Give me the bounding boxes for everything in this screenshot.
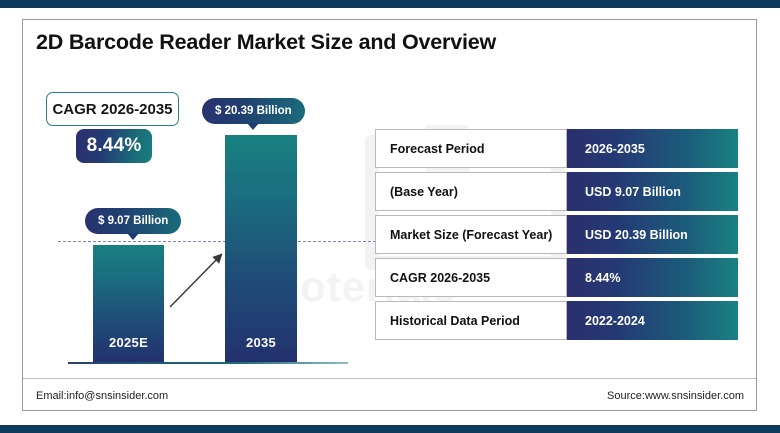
table-row-label: Market Size (Forecast Year) <box>375 215 567 254</box>
value-pill-2035-label: $ 20.39 Billion <box>215 105 292 117</box>
table-row-value: 2026-2035 <box>567 129 738 168</box>
value-pill-2035: $ 20.39 Billion <box>202 98 305 124</box>
table-row-value: USD 9.07 Billion <box>567 172 738 211</box>
table-row-value: 2022-2024 <box>567 301 738 340</box>
bar-chart: $ 9.07 Billion $ 20.39 Billion 2025E 203… <box>60 100 360 368</box>
table-row-label: Forecast Period <box>375 129 567 168</box>
chart-baseline <box>68 362 348 365</box>
bar-2025: 2025E <box>93 245 164 364</box>
bar-2035: 2035 <box>225 135 297 364</box>
bar-category-label-2035: 2035 <box>225 335 297 350</box>
table-row-value: USD 20.39 Billion <box>567 215 738 254</box>
summary-table: Forecast Period 2026-2035 (Base Year) US… <box>375 129 738 344</box>
page-title: 2D Barcode Reader Market Size and Overvi… <box>36 30 496 55</box>
table-row: (Base Year) USD 9.07 Billion <box>375 172 738 211</box>
top-accent-band <box>0 0 780 8</box>
table-row-label: Historical Data Period <box>375 301 567 340</box>
table-row: CAGR 2026-2035 8.44% <box>375 258 738 297</box>
growth-arrow-icon <box>165 245 235 315</box>
value-pill-2025-label: $ 9.07 Billion <box>98 215 168 227</box>
footer-email: Email:info@snsinsider.com <box>36 390 168 402</box>
table-row-label: (Base Year) <box>375 172 567 211</box>
table-row-value: 8.44% <box>567 258 738 297</box>
footer-source: Source:www.snsinsider.com <box>607 390 744 402</box>
table-row: Historical Data Period 2022-2024 <box>375 301 738 340</box>
footer-divider <box>23 378 756 379</box>
table-row-label: CAGR 2026-2035 <box>375 258 567 297</box>
table-row: Forecast Period 2026-2035 <box>375 129 738 168</box>
bottom-accent-band <box>0 425 780 433</box>
table-row: Market Size (Forecast Year) USD 20.39 Bi… <box>375 215 738 254</box>
value-pill-2025: $ 9.07 Billion <box>85 208 181 234</box>
bar-category-label-2025: 2025E <box>93 335 164 350</box>
